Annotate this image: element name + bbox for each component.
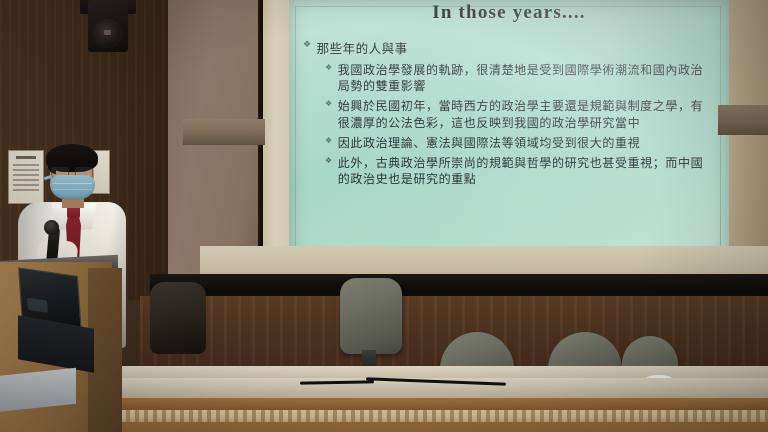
chair-center-left xyxy=(340,278,402,354)
slide-bullet-level2: ❖ 因此政治理論、憲法與國際法等領域均受到很大的重視 xyxy=(325,135,715,151)
slide-bullet-text: 因此政治理論、憲法與國際法等領域均受到很大的重視 xyxy=(338,135,715,151)
bullet-diamond-icon: ❖ xyxy=(325,98,333,111)
slide-bullet-level2: ❖ 我國政治學發展的軌跡，很清楚地是受到國際學術潮流和國內政治局勢的雙重影響 xyxy=(325,62,715,94)
bullet-diamond-icon: ❖ xyxy=(325,155,333,168)
face-mask-icon xyxy=(50,175,95,199)
slide-bullet-text: 始興於民國初年，當時西方的政治學主要還是規範與制度之學，有很濃厚的公法色彩，這也… xyxy=(338,98,715,130)
bullet-diamond-icon: ❖ xyxy=(303,38,312,52)
slide-bullet-level2: ❖ 始興於民國初年，當時西方的政治學主要還是規範與制度之學，有很濃厚的公法色彩，… xyxy=(325,98,715,130)
slide-title: In those years.... xyxy=(289,2,729,24)
pa-speaker-icon xyxy=(88,0,128,52)
bullet-diamond-icon: ❖ xyxy=(325,62,333,75)
slide-bullet-text: 那些年的人與事 xyxy=(317,38,715,57)
bullet-diamond-icon: ❖ xyxy=(325,135,333,148)
slide-bullet-text: 我國政治學發展的軌跡，很清楚地是受到國際學術潮流和國內政治局勢的雙重影響 xyxy=(338,62,715,94)
slide-bullet-level2: ❖ 此外，古典政治學所崇尚的規範與哲學的研究也甚受重視；而中國的政治史也是研究的… xyxy=(325,155,715,187)
chair-dark-left xyxy=(150,282,206,354)
wall-fixture-left xyxy=(183,119,265,145)
pa-speaker-badge xyxy=(104,30,111,35)
projection-screen: In those years.... ❖ 那些年的人與事 ❖ 我國政治學發展的軌… xyxy=(289,0,729,265)
screenshot-stage: In those years.... ❖ 那些年的人與事 ❖ 我國政治學發展的軌… xyxy=(0,0,768,432)
slide-bullet-text: 此外，古典政治學所崇尚的規範與哲學的研究也甚受重視；而中國的政治史也是研究的重點 xyxy=(338,155,715,187)
slide-bullet-level1: ❖ 那些年的人與事 xyxy=(303,38,715,57)
wall-fixture-right xyxy=(718,105,768,135)
slide-body: ❖ 那些年的人與事 ❖ 我國政治學發展的軌跡，很清楚地是受到國際學術潮流和國內政… xyxy=(303,38,715,191)
